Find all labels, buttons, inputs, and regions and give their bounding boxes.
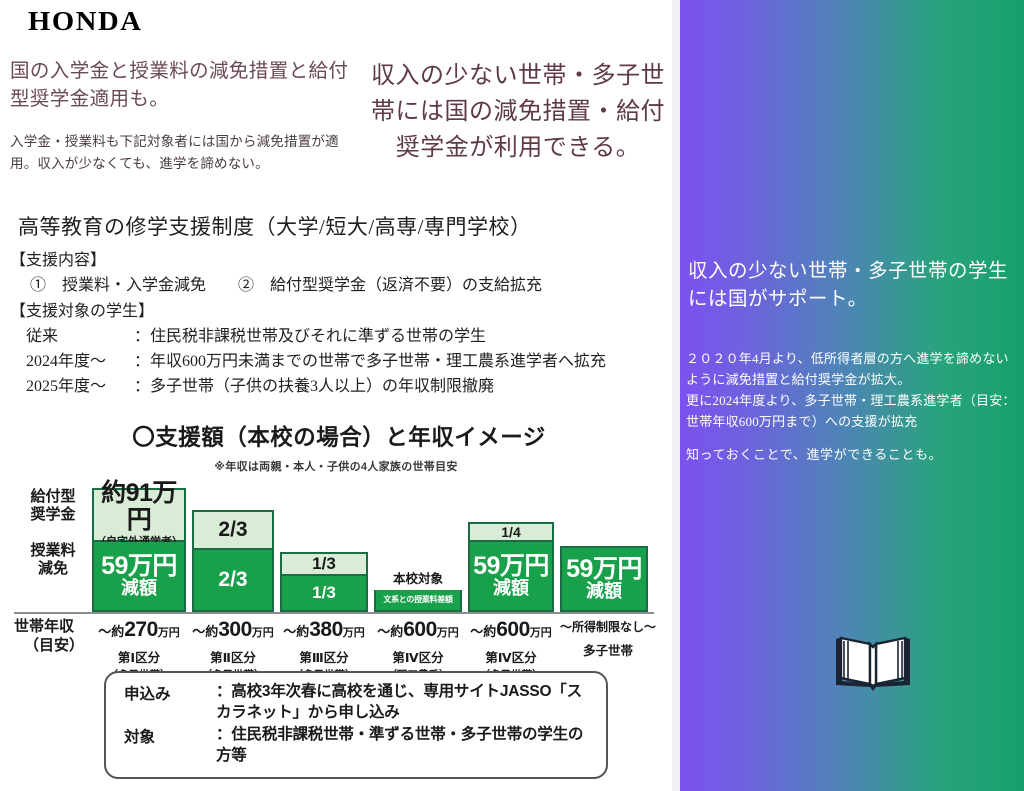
bar-segment-waiver: 59万円 減額 <box>92 542 186 612</box>
x-income-label: ～約600万円 <box>468 618 554 642</box>
right-body-paragraph: 更に2024年度より、多子世帯・理工農系進学者（目安：世帯年収600万円まで）へ… <box>686 390 1016 432</box>
application-row: 対象 ：住民税非課税世帯・準ずる世帯・多子世帯の学生の方等 <box>124 725 592 767</box>
support-details: 【支援内容】 ① 授業料・入学金減免 ② 給付型奨学金（返済不要）の支給拡充 【… <box>10 248 660 400</box>
right-footer-text: 知っておくことで、進学ができることも。 <box>686 445 1016 466</box>
poster-page: HONDA 国の入学金と授業料の減免措置と給付型奨学金適用も。 入学金・授業料も… <box>0 0 1024 791</box>
x-income-unit: 万円 <box>437 627 459 639</box>
row-label-waiver: 授業料 減免 <box>14 542 92 578</box>
row-label-grant: 給付型 奨学金 <box>14 488 92 524</box>
application-info-box: 申込み ：高校3年次春に高校を通じ、専用サイトJASSO「スカラネット」から申し… <box>104 671 608 779</box>
bar-waiver-value: 2/3 <box>218 569 247 591</box>
application-row-value: ：住民税非課税世帯・準ずる世帯・多子世帯の学生の方等 <box>216 725 592 767</box>
x-income-label: ～所得制限なし～ <box>560 618 656 635</box>
support-amount-chart: 〇支援額（本校の場合）と年収イメージ ※年収は両親・本人・子供の4人家族の世帯目… <box>14 420 654 680</box>
bar-column: 2/3 2/3 <box>192 510 274 612</box>
bar-waiver-value: 1/3 <box>312 584 336 602</box>
x-income-prefix: ～約 <box>192 624 218 639</box>
support-row: 従来 ：住民税非課税世帯及びそれに準ずる世帯の学生 <box>10 324 660 349</box>
bar-waiver-sublabel: 減額 <box>121 578 157 598</box>
open-book-icon <box>832 625 914 702</box>
chart-annotation-honko: 本校対象 <box>374 568 462 587</box>
panel-edge-strip <box>672 0 680 791</box>
bar-column: 約91万円 （自宅外通学者） 59万円 減額 <box>92 488 186 612</box>
x-income-prefix: ～約 <box>283 624 309 639</box>
support-row-value: ：年収600万円未満までの世帯で多子世帯・理工農系進学者へ拡充 <box>134 349 660 374</box>
bar-segment-waiver: 文系との授業料差額 <box>374 590 462 612</box>
right-body-text: ２０２０年4月より、低所得者層の方へ進学を諦めないように減免措置と給付奨学金が拡… <box>686 348 1016 432</box>
support-row-key: 従来 <box>26 324 134 349</box>
bar-segment-grant: 2/3 <box>192 510 274 550</box>
bar-segment-grant: 1/3 <box>280 552 368 576</box>
x-axis-title: 世帯年収 （目安） <box>14 618 92 682</box>
chart-row-labels: 給付型 奨学金 授業料 減免 <box>14 480 92 612</box>
support-row-value: ：住民税非課税世帯及びそれに準ずる世帯の学生 <box>134 324 660 349</box>
bar-waiver-value: 59万円 <box>473 552 549 580</box>
bar-waiver-value: 文系との授業料差額 <box>383 596 452 604</box>
section-title: 高等教育の修学支援制度（大学/短大/高専/専門学校） <box>18 211 532 241</box>
bar-column: 1/4 59万円 減額 <box>468 522 554 612</box>
bar-waiver-sublabel: 減額 <box>586 581 622 601</box>
bar-segment-waiver: 59万円 減額 <box>560 546 648 612</box>
x-division: 第Ⅳ区分 <box>468 647 554 666</box>
application-row-value: ：高校3年次春に高校を通じ、専用サイトJASSO「スカラネット」から申し込み <box>216 682 592 724</box>
x-division: 第Ⅰ区分 <box>92 647 186 666</box>
x-division: 第Ⅲ区分 <box>280 647 368 666</box>
bar-grant-value: 2/3 <box>218 519 247 541</box>
support-content-heading: 【支援内容】 <box>10 248 660 273</box>
chart-title: 〇支援額（本校の場合）と年収イメージ <box>14 420 654 452</box>
bar-grant-value: 約91万円 <box>101 479 177 533</box>
x-income-prefix: ～約 <box>98 624 124 639</box>
support-row-value: ：多子世帯（子供の扶養3人以上）の年収制限撤廃 <box>134 374 660 399</box>
application-row-key: 対象 <box>124 725 216 767</box>
row-label-grant-l2: 奨学金 <box>30 506 75 523</box>
support-row-key: 2024年度～ <box>26 349 134 374</box>
bar-waiver-value: 59万円 <box>101 552 177 580</box>
bar-segment-grant: 約91万円 （自宅外通学者） <box>92 488 186 542</box>
lead-subtext: 入学金・授業料も下記対象者には国から減免措置が適用。収入が少なくても、進学を諦め… <box>10 131 360 176</box>
support-content-items: ① 授業料・入学金減免 ② 給付型奨学金（返済不要）の支給拡充 <box>10 273 660 298</box>
x-axis-title-text: 世帯年収 <box>14 618 74 635</box>
bar-column: 本校対象 文系との授業料差額 <box>374 590 462 612</box>
application-row: 申込み ：高校3年次春に高校を通じ、専用サイトJASSO「スカラネット」から申し… <box>124 682 592 724</box>
chart-plot-area: 給付型 奨学金 授業料 減免 約91万円 （自宅外通学者） <box>14 480 654 612</box>
application-row-key: 申込み <box>124 682 216 724</box>
x-income-number: 300 <box>218 618 252 641</box>
x-income-number: 270 <box>124 618 158 641</box>
x-division: 第Ⅳ区分 <box>374 647 462 666</box>
support-target-heading: 【支援対象の学生】 <box>10 299 660 324</box>
bar-segment-grant: 1/4 <box>468 522 554 542</box>
bar-segment-waiver: 1/3 <box>280 576 368 612</box>
bar-waiver-sublabel: 減額 <box>493 578 529 598</box>
x-income-prefix: ～約 <box>377 624 403 639</box>
support-row: 2024年度～ ：年収600万円未満までの世帯で多子世帯・理工農系進学者へ拡充 <box>10 349 660 374</box>
x-income-unit: 万円 <box>158 627 180 639</box>
row-label-grant-l1: 給付型 <box>30 488 75 505</box>
chart-baseline <box>14 612 654 614</box>
bar-column: 59万円 減額 <box>560 546 648 612</box>
bar-waiver-value: 59万円 <box>566 555 642 583</box>
x-income-unit: 万円 <box>343 627 365 639</box>
bar-segment-waiver: 59万円 減額 <box>468 542 554 612</box>
x-income-label: ～約300万円 <box>192 618 274 642</box>
chart-bars: 約91万円 （自宅外通学者） 59万円 減額 2/3 <box>92 480 654 612</box>
support-row-key: 2025年度～ <box>26 374 134 399</box>
x-income-number: 600 <box>403 618 437 641</box>
lead-headline: 国の入学金と授業料の減免措置と給付型奨学金適用も。 <box>10 58 355 113</box>
x-income-label: ～約380万円 <box>280 618 368 642</box>
row-label-waiver-l1: 授業料 <box>30 542 75 559</box>
chart-note: ※年収は両親・本人・子供の4人家族の世帯目安 <box>14 458 654 474</box>
bar-grant-value: 1/3 <box>312 555 336 573</box>
honda-logo: HONDA <box>28 6 142 37</box>
x-division: 多子世帯 <box>560 640 656 659</box>
x-division: 第Ⅱ区分 <box>192 647 274 666</box>
x-income-label: ～約600万円 <box>374 618 462 642</box>
row-label-waiver-l2: 減免 <box>38 560 68 577</box>
bar-segment-waiver: 2/3 <box>192 550 274 612</box>
x-income-label: ～約270万円 <box>92 618 186 642</box>
left-content-panel: HONDA 国の入学金と授業料の減免措置と給付型奨学金適用も。 入学金・授業料も… <box>0 0 672 791</box>
bar-column: 1/3 1/3 <box>280 552 368 612</box>
x-income-number: 600 <box>496 618 530 641</box>
right-headline: 収入の少ない世帯・多子世帯の学生には国がサポート。 <box>688 258 1010 315</box>
x-income-unit: 万円 <box>530 627 552 639</box>
x-income-prefix: ～所得制限なし～ <box>560 620 656 634</box>
x-axis-title-sub: （目安） <box>14 637 92 656</box>
x-income-prefix: ～約 <box>470 624 496 639</box>
bar-grant-value: 1/4 <box>501 525 520 540</box>
right-body-paragraph: ２０２０年4月より、低所得者層の方へ進学を諦めないように減免措置と給付奨学金が拡… <box>686 348 1016 390</box>
x-income-number: 380 <box>309 618 343 641</box>
support-row: 2025年度～ ：多子世帯（子供の扶養3人以上）の年収制限撤廃 <box>10 374 660 399</box>
x-income-unit: 万円 <box>252 627 274 639</box>
main-headline: 収入の少ない世帯・多子世帯には国の減免措置・給付奨学金が利用できる。 <box>368 58 668 166</box>
